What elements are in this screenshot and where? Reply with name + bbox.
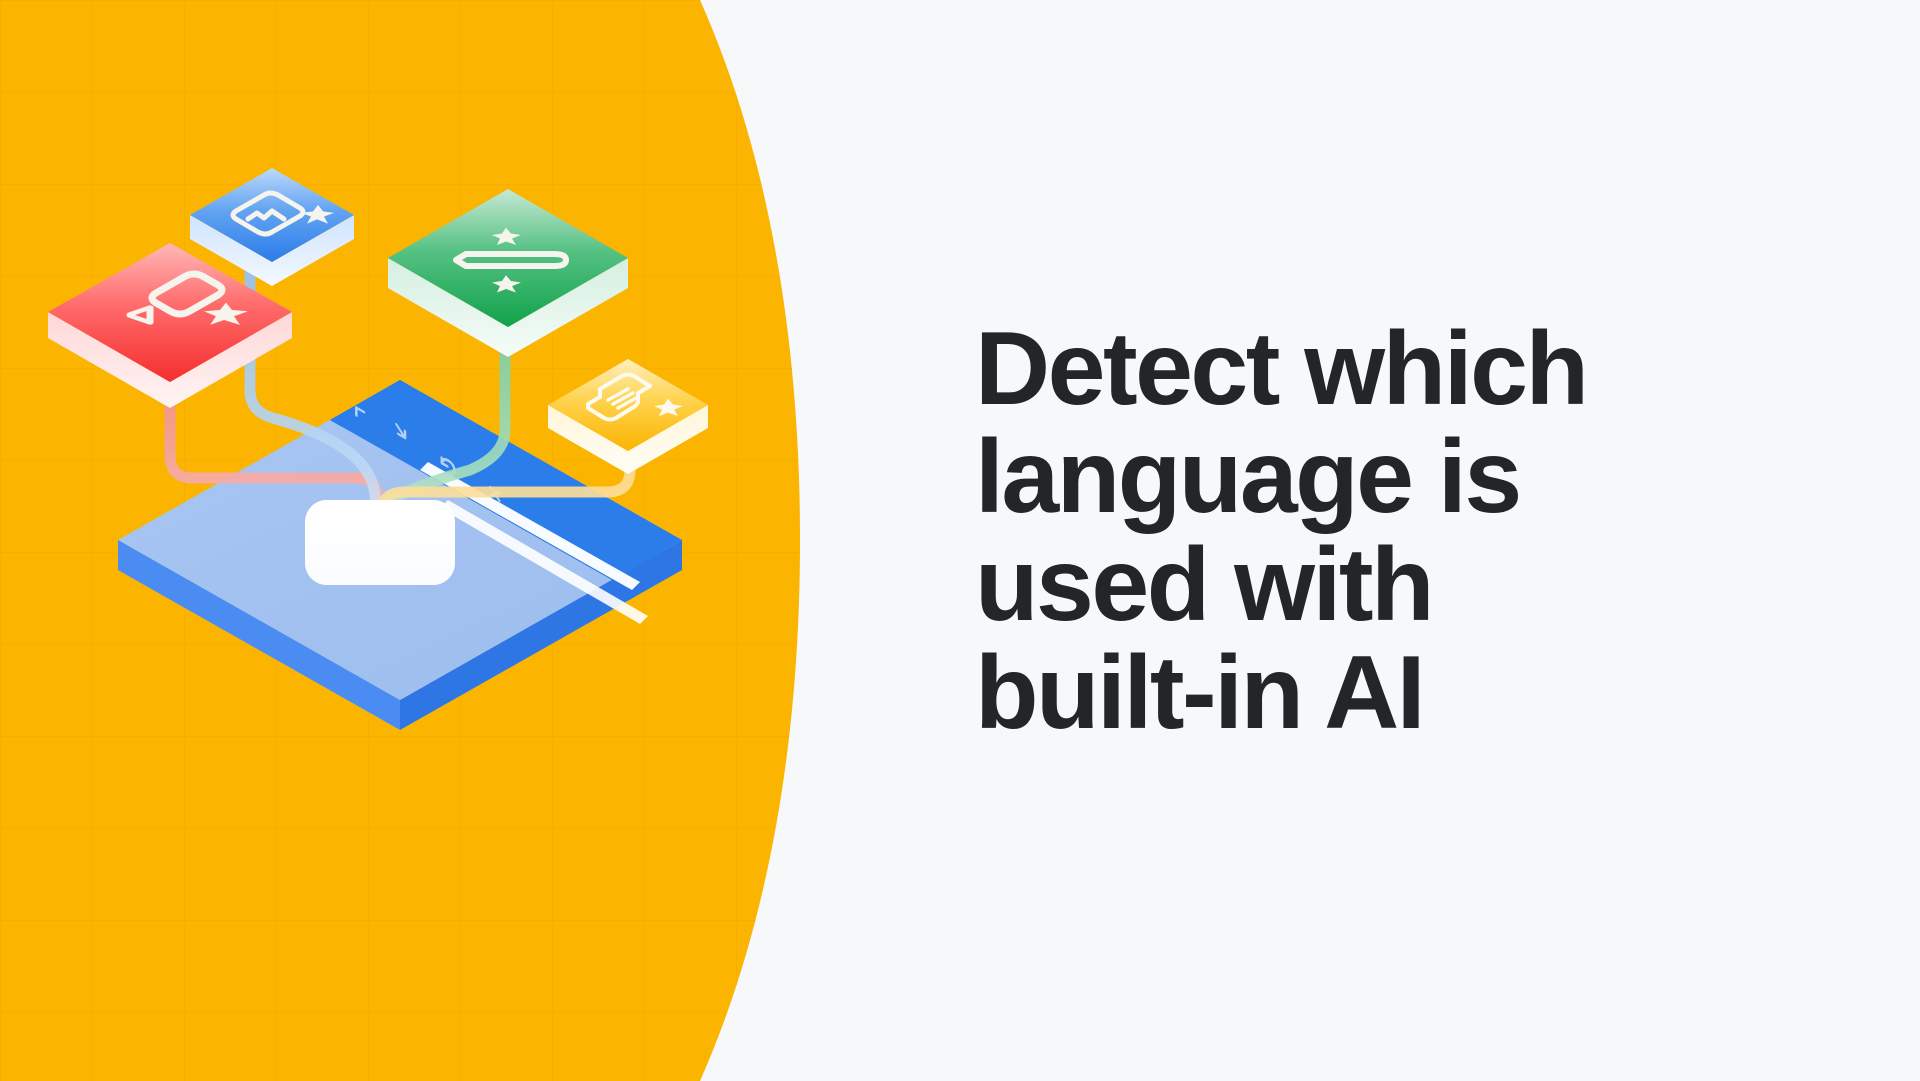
headline-line-2: language is — [975, 423, 1805, 531]
card-summarizer[interactable] — [548, 359, 708, 474]
headline-line-1: Detect which — [975, 315, 1805, 423]
page-title: Detect which language is used with built… — [975, 315, 1805, 747]
illustration-root — [0, 0, 860, 1081]
page-root: Detect which language is used with built… — [0, 0, 1920, 1081]
card-writer[interactable] — [388, 189, 628, 357]
headline-line-3: used with — [975, 531, 1805, 639]
headline-line-4: built-in AI — [975, 639, 1805, 747]
output-card-overlay — [305, 500, 455, 585]
